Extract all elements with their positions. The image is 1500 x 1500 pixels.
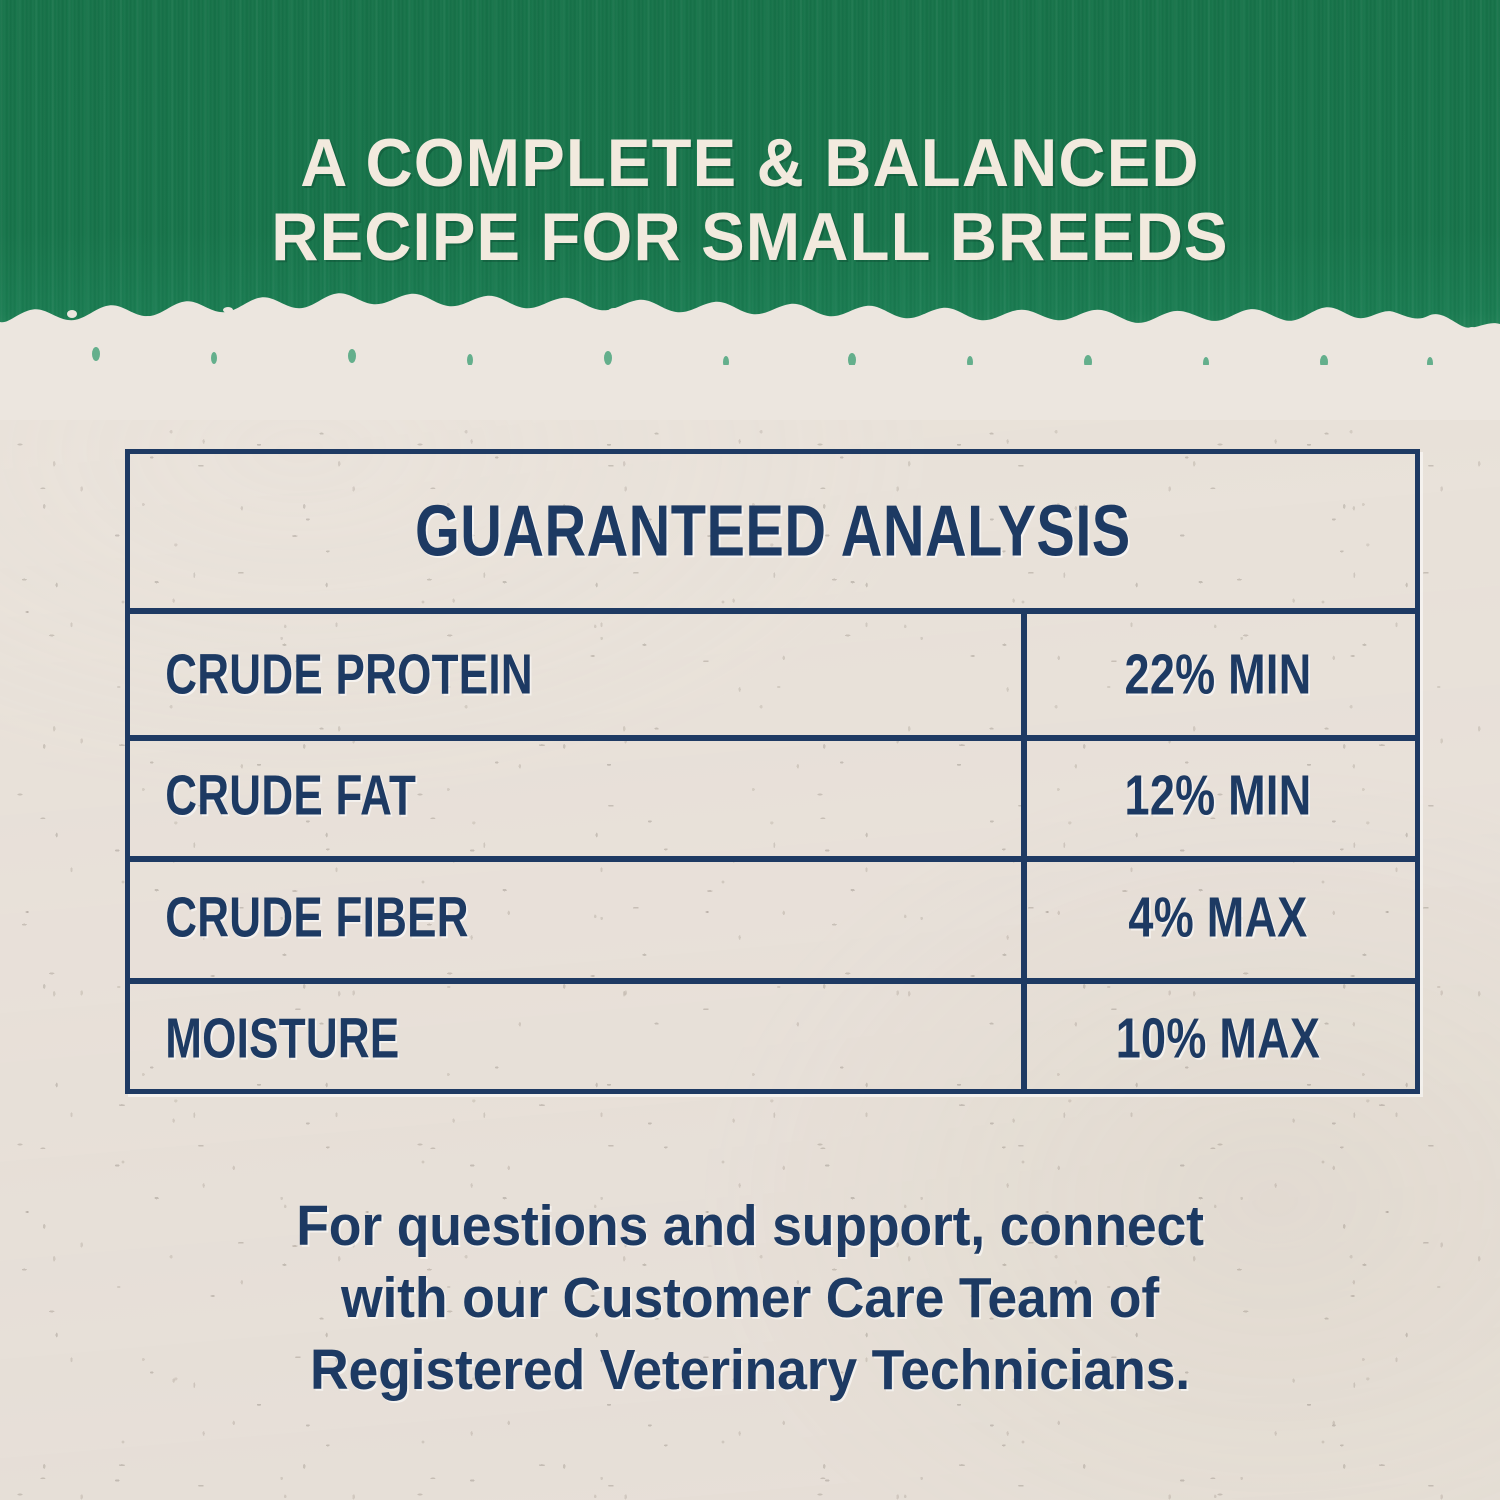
nutrient-label: MOISTURE [130,1005,914,1071]
table-row: MOISTURE 10% MAX [130,978,1415,1100]
nutrient-value: 22% MIN [1041,641,1396,707]
product-infographic-page: A COMPLETE & BALANCED RECIPE FOR SMALL B… [0,0,1500,1500]
headline-line-1: A COMPLETE & BALANCED [30,126,1470,200]
headline-line-2: RECIPE FOR SMALL BREEDS [30,200,1470,274]
table-row: CRUDE FAT 12% MIN [130,735,1415,857]
nutrient-label: CRUDE FIBER [130,884,914,950]
guaranteed-analysis-header: GUARANTEED ANALYSIS [130,454,1415,608]
guaranteed-analysis-title: GUARANTEED ANALYSIS [415,490,1131,572]
table-row: CRUDE FIBER 4% MAX [130,856,1415,978]
table-row: CRUDE PROTEIN 22% MIN [130,613,1415,735]
footer-line-1: For questions and support, connect [167,1190,1333,1262]
guaranteed-analysis-table: GUARANTEED ANALYSIS CRUDE PROTEIN 22% MI… [125,449,1420,1094]
guaranteed-analysis-rows: CRUDE PROTEIN 22% MIN CRUDE FAT 12% MIN … [130,613,1415,1089]
nutrient-label: CRUDE FAT [130,762,914,828]
nutrient-value: 10% MAX [1041,1005,1396,1071]
customer-care-note: For questions and support, connect with … [167,1190,1333,1406]
banner-headline: A COMPLETE & BALANCED RECIPE FOR SMALL B… [30,126,1470,274]
nutrient-label: CRUDE PROTEIN [130,641,914,707]
nutrient-value: 4% MAX [1041,884,1396,950]
footer-line-2: with our Customer Care Team of [167,1262,1333,1334]
footer-line-3: Registered Veterinary Technicians. [167,1334,1333,1406]
paint-spatter-flecks [0,270,1500,365]
nutrient-value: 12% MIN [1041,762,1396,828]
